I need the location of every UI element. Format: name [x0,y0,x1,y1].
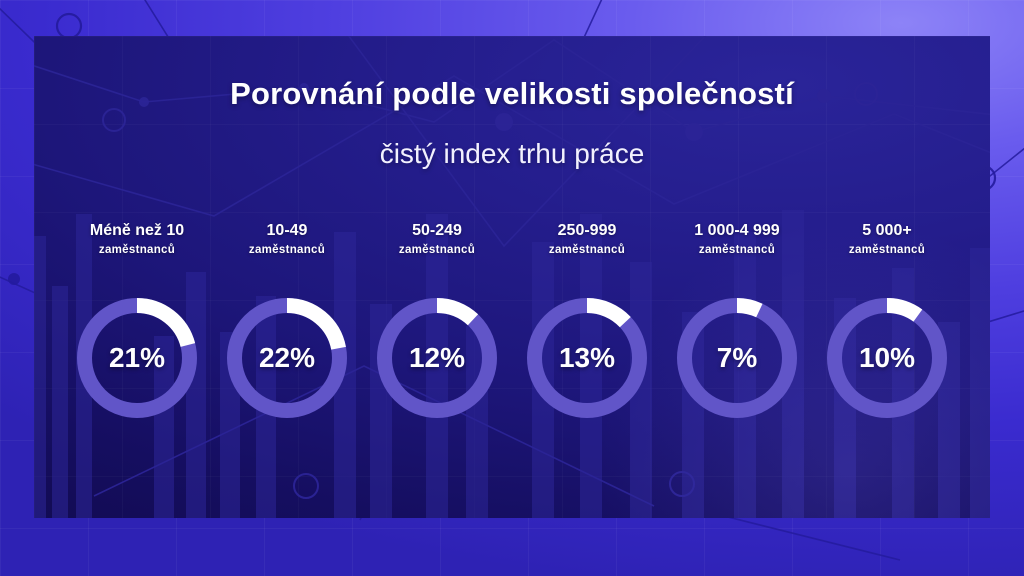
category-subtitle: zaměstnanců [849,244,925,256]
category-title: 5 000+ [862,222,911,240]
category-subtitle: zaměstnanců [699,244,775,256]
metric-card: 10-49zaměstnanců22% [212,222,362,418]
donut-svg [227,298,347,418]
metric-card: 250-999zaměstnanců13% [512,222,662,418]
donut-svg [77,298,197,418]
donut-svg [827,298,947,418]
donut-track [685,306,790,411]
donut-chart: 13% [527,298,647,418]
category-title: 1 000-4 999 [694,222,779,240]
donut-track [385,306,490,411]
page-title: Porovnání podle velikosti společností [0,76,1024,112]
donut-chart: 10% [827,298,947,418]
category-title: Méně než 10 [90,222,184,240]
donut-chart: 12% [377,298,497,418]
metric-card: Méně než 10zaměstnanců21% [62,222,212,418]
slide-canvas: Porovnání podle velikosti společností či… [0,0,1024,576]
metric-card: 50-249zaměstnanců12% [362,222,512,418]
category-subtitle: zaměstnanců [249,244,325,256]
category-subtitle: zaměstnanců [99,244,175,256]
category-title: 250-999 [558,222,617,240]
slide-content: Porovnání podle velikosti společností či… [0,0,1024,576]
category-subtitle: zaměstnanců [549,244,625,256]
donut-chart: 22% [227,298,347,418]
donut-svg [677,298,797,418]
metric-card: 5 000+zaměstnanců10% [812,222,962,418]
donut-svg [377,298,497,418]
metric-card: 1 000-4 999zaměstnanců7% [662,222,812,418]
donut-chart: 7% [677,298,797,418]
category-title: 10-49 [267,222,308,240]
metric-card-list: Méně než 10zaměstnanců21%10-49zaměstnanc… [34,222,990,418]
category-title: 50-249 [412,222,462,240]
page-subtitle: čistý index trhu práce [0,138,1024,170]
category-subtitle: zaměstnanců [399,244,475,256]
donut-svg [527,298,647,418]
donut-chart: 21% [77,298,197,418]
donut-track [835,306,940,411]
